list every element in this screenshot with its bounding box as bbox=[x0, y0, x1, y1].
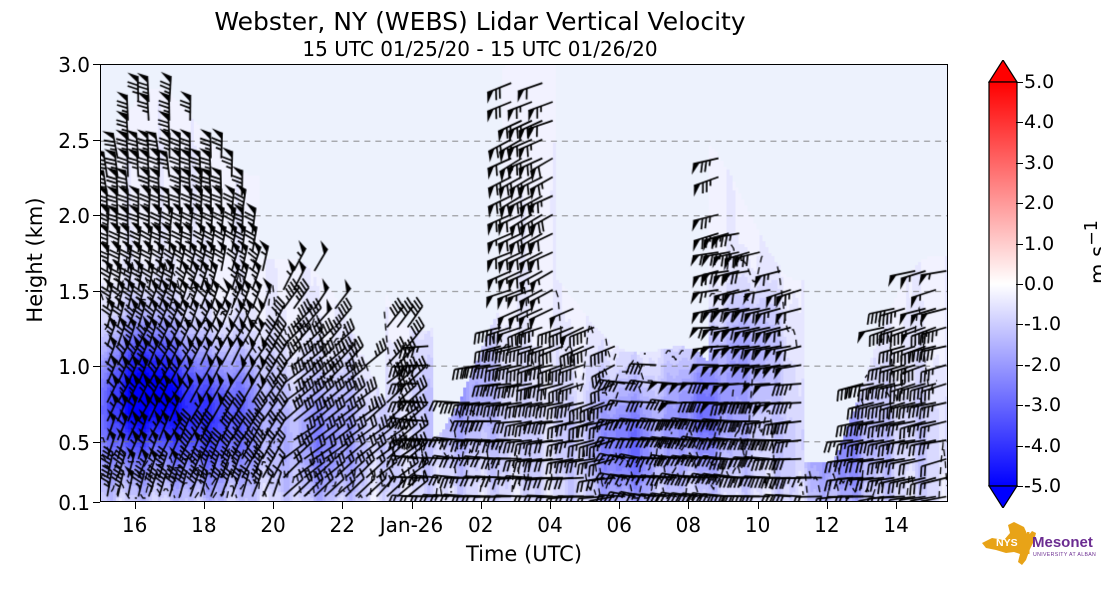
figure-subtitle: 15 UTC 01/25/20 - 15 UTC 01/26/20 bbox=[0, 37, 960, 61]
y-tick-label: 3.0 bbox=[38, 53, 90, 77]
logo-nys-text: NYS bbox=[996, 537, 1018, 549]
logo-brand-text: Mesonet bbox=[1032, 534, 1093, 551]
colorbar-tick-mark bbox=[1016, 365, 1023, 366]
y-tick-mark bbox=[93, 442, 100, 443]
x-axis-label: Time (UTC) bbox=[100, 542, 948, 566]
y-tick-mark bbox=[93, 366, 100, 367]
colorbar-tick-mark bbox=[1016, 446, 1023, 447]
logo-subtitle-text: UNIVERSITY AT ALBANY bbox=[1033, 552, 1096, 558]
colorbar-tick-label: 0.0 bbox=[1024, 273, 1054, 295]
x-tick-mark bbox=[481, 502, 482, 509]
colorbar-tick-label: -5.0 bbox=[1024, 475, 1061, 497]
x-tick-mark bbox=[827, 502, 828, 509]
x-tick-mark bbox=[758, 502, 759, 509]
x-tick-label: 14 bbox=[848, 513, 944, 537]
x-tick-mark bbox=[619, 502, 620, 509]
colorbar-tick-mark bbox=[1016, 324, 1023, 325]
colorbar-tick-mark bbox=[1016, 405, 1023, 406]
colorbar-tick-mark bbox=[1016, 163, 1023, 164]
y-tick-mark bbox=[93, 291, 100, 292]
y-tick-mark bbox=[93, 502, 100, 503]
colorbar-tick-label: -4.0 bbox=[1024, 435, 1061, 457]
page-title: Webster, NY (WEBS) Lidar Vertical Veloci… bbox=[0, 7, 960, 36]
logo-graphic: NYS Mesonet UNIVERSITY AT ALBANY bbox=[978, 519, 1096, 569]
x-tick-mark bbox=[273, 502, 274, 509]
colorbar-tick-label: -2.0 bbox=[1024, 354, 1061, 376]
colorbar: 5.04.03.02.01.00.0-1.0-2.0-3.0-4.0-5.0 bbox=[988, 60, 1018, 508]
figure-canvas: Webster, NY (WEBS) Lidar Vertical Veloci… bbox=[0, 0, 1101, 600]
colorbar-tick-label: 5.0 bbox=[1024, 71, 1054, 93]
colorbar-tick-mark bbox=[1016, 122, 1023, 123]
colorbar-tick-mark bbox=[1016, 82, 1023, 83]
colorbar-tick-label: 4.0 bbox=[1024, 111, 1054, 133]
colorbar-tick-label: 1.0 bbox=[1024, 233, 1054, 255]
x-tick-mark bbox=[896, 502, 897, 509]
x-tick-mark bbox=[412, 502, 413, 509]
y-tick-label: 0.5 bbox=[38, 431, 90, 455]
colorbar-tick-mark bbox=[1016, 203, 1023, 204]
x-tick-mark bbox=[135, 502, 136, 509]
nys-mesonet-logo: NYS Mesonet UNIVERSITY AT ALBANY bbox=[978, 519, 1096, 569]
colorbar-tick-label: 2.0 bbox=[1024, 192, 1054, 214]
x-tick-mark bbox=[342, 502, 343, 509]
y-tick-label: 0.1 bbox=[38, 491, 90, 515]
y-tick-mark bbox=[93, 140, 100, 141]
colorbar-unit-label: m s−1 bbox=[1082, 162, 1101, 342]
x-tick-mark bbox=[204, 502, 205, 509]
y-tick-mark bbox=[93, 64, 100, 65]
colorbar-tick-label: 3.0 bbox=[1024, 152, 1054, 174]
logo-divider bbox=[1027, 532, 1030, 554]
colorbar-tick-mark bbox=[1016, 486, 1023, 487]
y-axis-label: Height (km) bbox=[23, 130, 47, 390]
colorbar-tick-mark bbox=[1016, 244, 1023, 245]
colorbar-tick-mark bbox=[1016, 284, 1023, 285]
vertical-velocity-field bbox=[101, 65, 947, 501]
x-tick-mark bbox=[550, 502, 551, 509]
y-tick-mark bbox=[93, 215, 100, 216]
plot-area bbox=[100, 64, 948, 502]
x-tick-mark bbox=[688, 502, 689, 509]
colorbar-gradient bbox=[988, 60, 1018, 508]
colorbar-tick-label: -1.0 bbox=[1024, 313, 1061, 335]
colorbar-tick-label: -3.0 bbox=[1024, 394, 1061, 416]
